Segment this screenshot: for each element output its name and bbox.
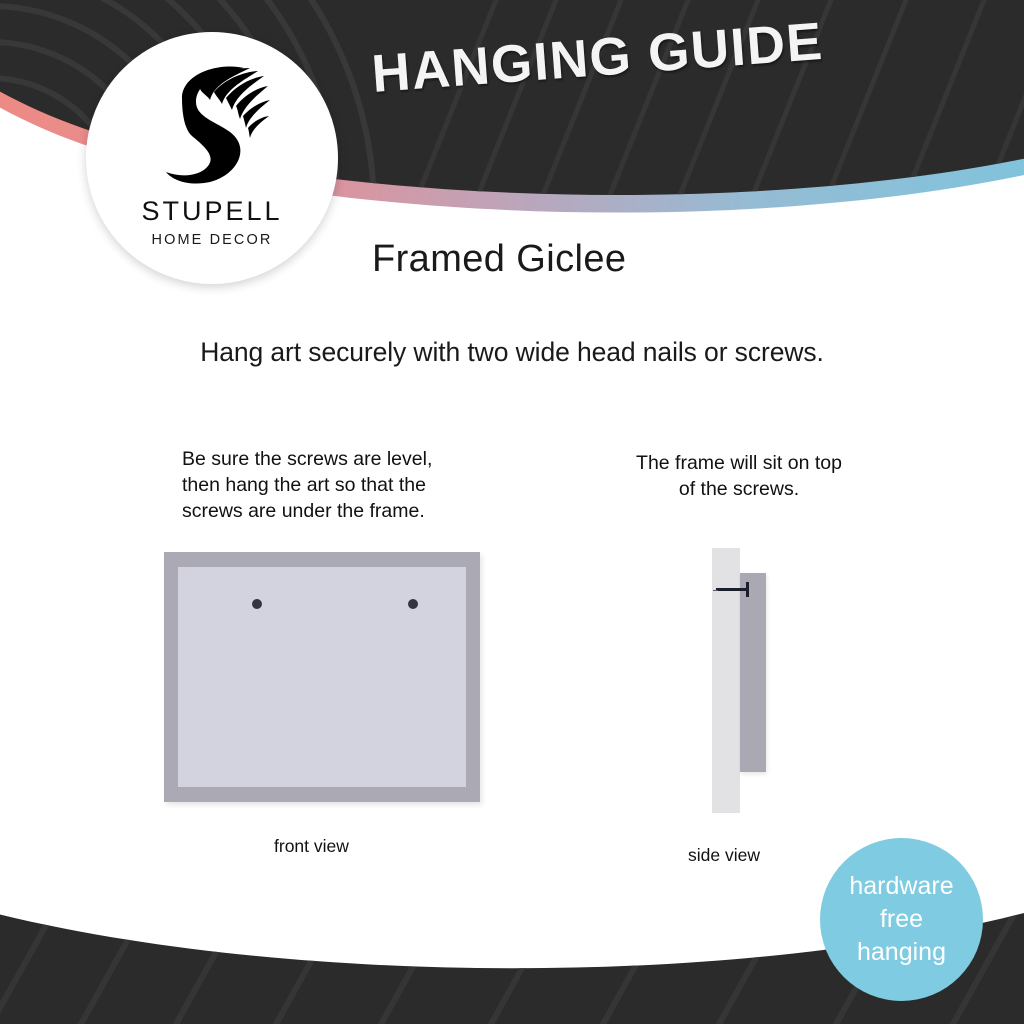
front-view-art-panel (178, 567, 466, 787)
front-caption-line-2: then hang the art so that the (182, 472, 482, 498)
side-view-label: side view (688, 845, 760, 866)
brand-tagline: HOME DECOR (152, 232, 273, 248)
front-caption-line-3: screws are under the frame. (182, 498, 482, 524)
hardware-free-hanging-badge: hardware free hanging (820, 838, 983, 1001)
promo-badge-line-2: free (880, 903, 923, 936)
screw-dot-left (252, 599, 262, 609)
nail-shaft-icon (716, 588, 749, 591)
front-view-frame-diagram (164, 552, 480, 802)
side-view-caption: The frame will sit on top of the screws. (600, 450, 878, 502)
front-view-caption: Be sure the screws are level, then hang … (182, 446, 482, 524)
stupell-swirl-logo-icon (152, 62, 272, 194)
nail-tip-icon (713, 590, 718, 591)
promo-badge-line-1: hardware (849, 870, 953, 903)
lead-instruction-text: Hang art securely with two wide head nai… (0, 337, 1024, 368)
front-caption-line-1: Be sure the screws are level, (182, 446, 482, 472)
side-caption-line-1: The frame will sit on top (600, 450, 878, 476)
side-caption-line-2: of the screws. (600, 476, 878, 502)
front-view-label: front view (274, 836, 349, 857)
screw-dot-right (408, 599, 418, 609)
brand-badge: STUPELL HOME DECOR (86, 32, 338, 284)
promo-badge-line-3: hanging (857, 936, 946, 969)
nail-head-icon (746, 582, 749, 597)
side-view-frame-strip (740, 573, 766, 772)
brand-name: STUPELL (141, 196, 282, 227)
product-type-label: Framed Giclee (372, 238, 626, 281)
hanging-guide-infographic: STUPELL HOME DECOR HANGING GUIDE Framed … (0, 0, 1024, 1024)
